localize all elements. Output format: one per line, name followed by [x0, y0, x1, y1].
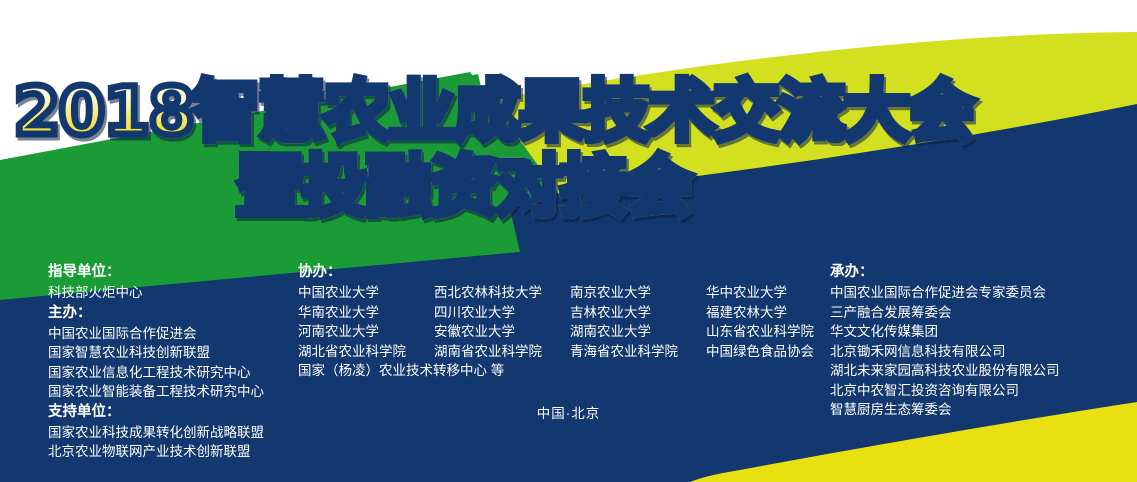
list-item: 安徽农业大学 — [434, 322, 570, 342]
list-item: 三产融合发展筹委会 — [830, 303, 1130, 323]
list-item: 华南农业大学 — [298, 303, 434, 323]
list-item: 中国农业国际合作促进会 — [48, 324, 288, 344]
list-item: 山东省农业科学院 — [706, 322, 822, 342]
list-item: 西北农林科技大学 — [434, 283, 570, 303]
list-item-last: 国家（杨凌）农业技术转移中心 等 — [298, 361, 706, 381]
organizations-block: 指导单位： 科技部火炬中心 主办： 中国农业国际合作促进会 国家智慧农业科技创新… — [0, 262, 1137, 462]
event-location: 中国·北京 — [0, 402, 1137, 422]
list-item: 湖南省农业科学院 — [434, 342, 570, 362]
list-item: 北京农业物联网产业技术创新联盟 — [48, 442, 288, 462]
list-item: 河南农业大学 — [298, 322, 434, 342]
column-organizers: 承办： 中国农业国际合作促进会专家委员会 三产融合发展筹委会 华文文化传媒集团 … — [830, 262, 1130, 420]
list-item: 青海省农业科学院 — [570, 342, 706, 362]
list-item: 华文文化传媒集团 — [830, 322, 1130, 342]
conference-banner: 2018智慧农业成果技术交流大会 暨投融资对接会 指导单位： 科技部火炬中心 主… — [0, 0, 1137, 482]
list-item: 科技部火炬中心 — [48, 283, 288, 303]
list-item: 中国绿色食品协会 — [706, 342, 822, 362]
list-item: 南京农业大学 — [570, 283, 706, 303]
list-item: 湖南农业大学 — [570, 322, 706, 342]
list-item: 吉林农业大学 — [570, 303, 706, 323]
list-item: 湖北省农业科学院 — [298, 342, 434, 362]
heading-organizer: 承办： — [830, 262, 1130, 283]
list-item: 中国农业大学 — [298, 283, 434, 303]
heading-host: 主办： — [48, 303, 288, 324]
list-item: 国家农业信息化工程技术研究中心 — [48, 363, 288, 383]
heading-guidance-unit: 指导单位： — [48, 262, 288, 283]
list-item: 中国农业国际合作促进会专家委员会 — [830, 283, 1130, 303]
list-item: 福建农林大学 — [706, 303, 822, 323]
list-item: 国家农业科技成果转化创新战略联盟 — [48, 423, 288, 443]
list-item: 国家农业智能装备工程技术研究中心 — [48, 382, 288, 402]
list-item: 四川农业大学 — [434, 303, 570, 323]
list-item: 北京锄禾网信息科技有限公司 — [830, 342, 1130, 362]
list-item: 华中农业大学 — [706, 283, 822, 303]
list-item: 北京中农智汇投资咨询有限公司 — [830, 381, 1130, 401]
heading-co-organizer: 协办： — [298, 262, 818, 283]
co-organizer-grid: 中国农业大学 西北农林科技大学 南京农业大学 华中农业大学 华南农业大学 四川农… — [298, 283, 818, 381]
list-item: 国家智慧农业科技创新联盟 — [48, 343, 288, 363]
column-co-organizers: 协办： 中国农业大学 西北农林科技大学 南京农业大学 华中农业大学 华南农业大学… — [298, 262, 818, 381]
list-item: 湖北未来家园高科技农业股份有限公司 — [830, 361, 1130, 381]
column-guidance-and-hosts: 指导单位： 科技部火炬中心 主办： 中国农业国际合作促进会 国家智慧农业科技创新… — [48, 262, 288, 462]
